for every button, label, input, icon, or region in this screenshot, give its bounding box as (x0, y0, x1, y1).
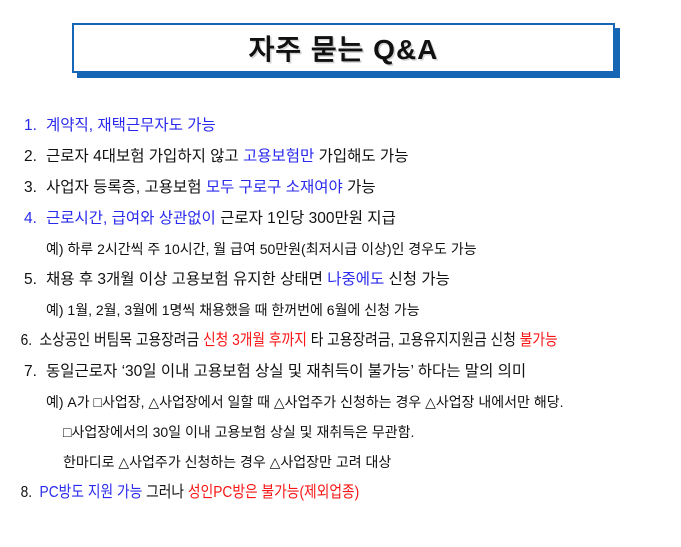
faq-list: 1.계약직, 재택근무자도 가능2.근로자 4대보험 가입하지 않고 고용보험만… (0, 110, 681, 508)
faq-line-content: 8.PC방도 지원 가능 그러나 성인PC방은 불가능(제외업종) (21, 477, 360, 508)
faq-item: 3.사업자 등록증, 고용보험 모두 구로구 소재여야 가능 (0, 172, 681, 203)
faq-sub-line: 예) A가 □사업장, △사업장에서 일할 때 △사업주가 신청하는 경우 △사… (0, 387, 681, 417)
faq-text-run: 근로자 4대보험 가입하지 않고 (46, 148, 243, 165)
title-banner: 자주 묻는 Q&A (72, 23, 615, 73)
faq-text-run: 모두 구로구 소재여야 (206, 179, 343, 196)
faq-text-run: 소상공인 버팀목 고용장려금 (40, 332, 203, 349)
faq-text-run: 계약직, 재택근무자도 가능 (46, 117, 216, 134)
faq-text-run: 그러나 (142, 484, 188, 501)
faq-line-content: 5.채용 후 3개월 이상 고용보험 유지한 상태면 나중에도 신청 가능 (24, 264, 450, 295)
faq-text-run: 고용보험만 (243, 148, 314, 165)
faq-item-number: 7. (24, 356, 43, 387)
faq-item-number: 6. (21, 325, 37, 356)
faq-item-number: 3. (24, 172, 43, 203)
faq-item-number: 4. (24, 203, 43, 234)
faq-sub-line: 예) 하루 2시간씩 주 10시간, 월 급여 50만원(최저시급 이상)인 경… (0, 234, 681, 264)
faq-line-content: 6.소상공인 버팀목 고용장려금 신청 3개월 후까지 타 고용장려금, 고용유… (21, 325, 558, 356)
faq-text-run: PC방도 지원 가능 (40, 484, 143, 501)
faq-text-run: 동일근로자 ‘30일 이내 고용보험 상실 및 재취득이 불가능’ 하다는 말의… (46, 363, 526, 380)
title-banner-box: 자주 묻는 Q&A (72, 23, 615, 73)
faq-line-content: 7.동일근로자 ‘30일 이내 고용보험 상실 및 재취득이 불가능’ 하다는 … (24, 356, 526, 387)
faq-item: 1.계약직, 재택근무자도 가능 (0, 110, 681, 141)
faq-text-run: 신청 3개월 후까지 (203, 332, 307, 349)
faq-item: 7.동일근로자 ‘30일 이내 고용보험 상실 및 재취득이 불가능’ 하다는 … (0, 356, 681, 387)
faq-item: 5.채용 후 3개월 이상 고용보험 유지한 상태면 나중에도 신청 가능 (0, 264, 681, 295)
page-title: 자주 묻는 Q&A (249, 28, 439, 68)
faq-text-run: 예) A가 □사업장, △사업장에서 일할 때 △사업주가 신청하는 경우 △사… (46, 394, 563, 410)
faq-text-run: 불가능 (520, 332, 558, 349)
faq-item: 8.PC방도 지원 가능 그러나 성인PC방은 불가능(제외업종) (0, 477, 586, 508)
faq-item-number: 8. (21, 477, 37, 508)
faq-line-content: 3.사업자 등록증, 고용보험 모두 구로구 소재여야 가능 (24, 172, 376, 203)
faq-text-run: 성인PC방은 불가능(제외업종) (188, 484, 359, 501)
faq-line-content: 예) A가 □사업장, △사업장에서 일할 때 △사업주가 신청하는 경우 △사… (46, 387, 563, 417)
faq-item: 6.소상공인 버팀목 고용장려금 신청 3개월 후까지 타 고용장려금, 고용유… (0, 325, 586, 356)
faq-text-run: 근로시간, 급여와 상관없이 (46, 210, 216, 227)
faq-sub-line: □사업장에서의 30일 이내 고용보험 상실 및 재취득은 무관함. (0, 417, 681, 447)
faq-text-run: 한마디로 △사업주가 신청하는 경우 △사업장만 고려 대상 (63, 454, 391, 470)
faq-text-run: 채용 후 3개월 이상 고용보험 유지한 상태면 (46, 271, 327, 288)
faq-text-run: 사업자 등록증, 고용보험 (46, 179, 206, 196)
faq-text-run: 타 고용장려금, 고용유지지원금 신청 (307, 332, 520, 349)
faq-sub-line: 예) 1월, 2월, 3월에 1명씩 채용했을 때 한꺼번에 6월에 신청 가능 (0, 295, 681, 325)
faq-text-run: 예) 하루 2시간씩 주 10시간, 월 급여 50만원(최저시급 이상)인 경… (46, 241, 477, 257)
faq-text-run: □사업장에서의 30일 이내 고용보험 상실 및 재취득은 무관함. (63, 424, 414, 440)
faq-line-content: 한마디로 △사업주가 신청하는 경우 △사업장만 고려 대상 (63, 447, 391, 477)
faq-item-number: 2. (24, 141, 43, 172)
faq-text-run: 나중에도 (327, 271, 384, 288)
faq-line-content: 1.계약직, 재택근무자도 가능 (24, 110, 216, 141)
faq-text-run: 가능 (343, 179, 376, 196)
faq-item-number: 5. (24, 264, 43, 295)
faq-line-content: 예) 1월, 2월, 3월에 1명씩 채용했을 때 한꺼번에 6월에 신청 가능 (46, 295, 420, 325)
faq-text-run: 예) 1월, 2월, 3월에 1명씩 채용했을 때 한꺼번에 6월에 신청 가능 (46, 302, 420, 318)
faq-sub-line: 한마디로 △사업주가 신청하는 경우 △사업장만 고려 대상 (0, 447, 681, 477)
faq-item: 4.근로시간, 급여와 상관없이 근로자 1인당 300만원 지급 (0, 203, 681, 234)
faq-text-run: 근로자 1인당 300만원 지급 (216, 210, 396, 227)
faq-line-content: 4.근로시간, 급여와 상관없이 근로자 1인당 300만원 지급 (24, 203, 396, 234)
faq-item-number: 1. (24, 110, 43, 141)
faq-text-run: 가입해도 가능 (314, 148, 408, 165)
faq-line-content: 예) 하루 2시간씩 주 10시간, 월 급여 50만원(최저시급 이상)인 경… (46, 234, 477, 264)
faq-text-run: 신청 가능 (384, 271, 450, 288)
faq-item: 2.근로자 4대보험 가입하지 않고 고용보험만 가입해도 가능 (0, 141, 681, 172)
faq-line-content: □사업장에서의 30일 이내 고용보험 상실 및 재취득은 무관함. (63, 417, 414, 447)
faq-line-content: 2.근로자 4대보험 가입하지 않고 고용보험만 가입해도 가능 (24, 141, 408, 172)
